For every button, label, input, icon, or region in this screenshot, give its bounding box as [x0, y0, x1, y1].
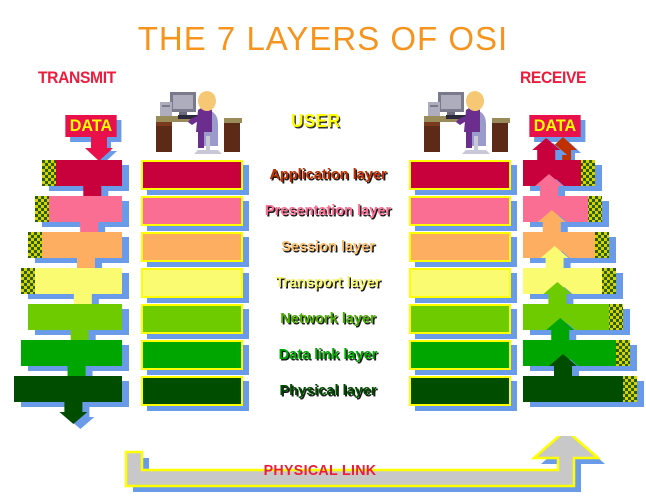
layer-bar-transmit[interactable] [141, 340, 243, 370]
layer-bar-transmit[interactable] [141, 232, 243, 262]
clipart-user-right [416, 82, 516, 160]
receive-label: RECEIVE [520, 68, 586, 88]
page-title: THE 7 LAYERS OF OSI [0, 20, 646, 58]
layer-bar-transmit[interactable] [141, 304, 243, 334]
layer-bar-receive[interactable] [409, 268, 511, 298]
osi-diagram: THE 7 LAYERS OF OSI TRANSMIT RECEIVE USE… [0, 0, 646, 494]
layer-name: Session layer [250, 232, 405, 262]
data-badge-receive: DATA [529, 115, 580, 137]
layer-bar-transmit[interactable] [141, 160, 243, 190]
layer-name: Transport layer [250, 268, 405, 298]
layer-bar-receive[interactable] [409, 376, 511, 406]
layer-bar-receive[interactable] [409, 340, 511, 370]
layer-bar-receive[interactable] [409, 196, 511, 226]
layer-bar-transmit[interactable] [141, 196, 243, 226]
user-label: USER [291, 111, 340, 132]
layer-bar-transmit[interactable] [141, 376, 243, 406]
transmit-label: TRANSMIT [38, 68, 116, 88]
layer-bar-transmit[interactable] [141, 268, 243, 298]
layer-bar-receive[interactable] [409, 232, 511, 262]
layer-name: Presentation layer [250, 196, 405, 226]
layer-bar-receive[interactable] [409, 160, 511, 190]
physical-link-label: PHYSICAL LINK [187, 462, 453, 479]
layer-name: Data link layer [250, 340, 405, 370]
data-down-arrow-icon [82, 136, 116, 162]
layer-bar-receive[interactable] [409, 304, 511, 334]
layer-name: Physical layer [250, 376, 405, 406]
decapsulation-arrow-receive [523, 364, 646, 414]
layer-name: Application layer [250, 160, 405, 190]
data-badge-transmit: DATA [65, 115, 116, 137]
layer-name: Network layer [250, 304, 405, 334]
clipart-user-left [148, 82, 248, 160]
